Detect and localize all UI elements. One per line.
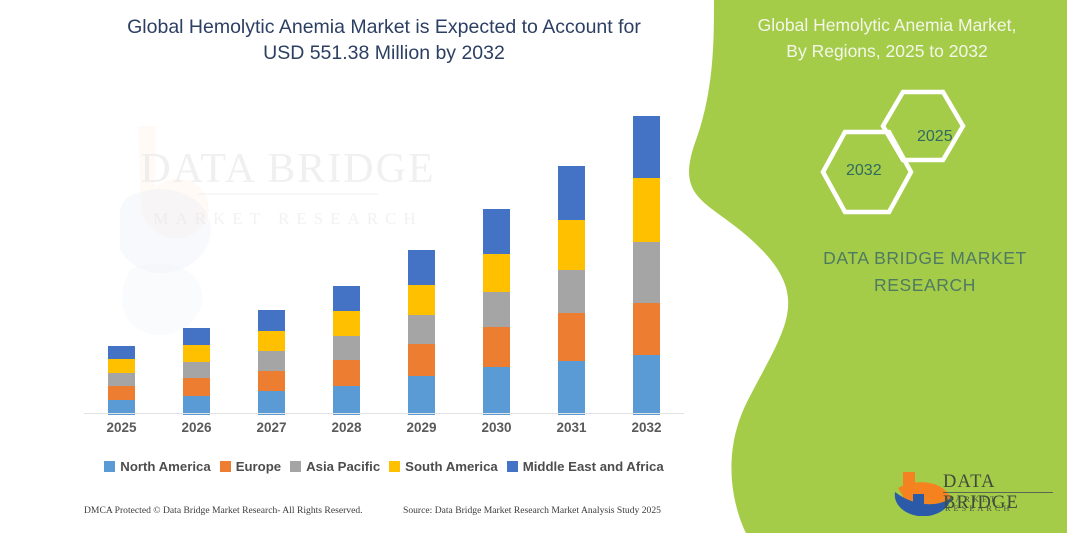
legend-item-label: South America bbox=[405, 459, 498, 474]
footer-dmca-text: DMCA Protected © Data Bridge Market Rese… bbox=[84, 505, 363, 516]
bar-2028 bbox=[333, 286, 360, 415]
bar-segment bbox=[108, 359, 135, 373]
bar-2032 bbox=[633, 116, 660, 415]
legend-item-label: Asia Pacific bbox=[306, 459, 380, 474]
x-axis-tick-2027: 2027 bbox=[242, 420, 302, 435]
page-title-line2: USD 551.38 Million by 2032 bbox=[84, 40, 684, 66]
legend-item[interactable]: North America bbox=[104, 459, 210, 474]
bar-segment bbox=[558, 166, 585, 220]
panel-title-line2: By Regions, 2025 to 2032 bbox=[722, 38, 1052, 64]
hexagon-2025-shape bbox=[883, 92, 963, 160]
bar-2029 bbox=[408, 250, 435, 415]
chart-legend: North AmericaEuropeAsia PacificSouth Ame… bbox=[84, 455, 684, 477]
bar-segment bbox=[483, 327, 510, 367]
legend-item-label: Middle East and Africa bbox=[523, 459, 664, 474]
page-title-line1: Global Hemolytic Anemia Market is Expect… bbox=[84, 14, 684, 40]
bar-segment bbox=[483, 254, 510, 292]
legend-swatch-icon bbox=[507, 461, 518, 472]
bar-segment bbox=[483, 292, 510, 328]
bar-2031 bbox=[558, 166, 585, 415]
bar-segment bbox=[108, 373, 135, 386]
legend-item[interactable]: Europe bbox=[220, 459, 281, 474]
bar-segment bbox=[258, 391, 285, 415]
x-axis-tick-2026: 2026 bbox=[167, 420, 227, 435]
bar-segment bbox=[558, 361, 585, 415]
bar-segment bbox=[183, 328, 210, 344]
bar-segment bbox=[408, 285, 435, 315]
bar-segment bbox=[633, 116, 660, 178]
hexagon-2032-label: 2032 bbox=[846, 162, 882, 180]
x-axis-tick-2031: 2031 bbox=[542, 420, 602, 435]
page-title: Global Hemolytic Anemia Market is Expect… bbox=[84, 14, 684, 66]
hexagon-badges bbox=[815, 88, 995, 218]
bar-segment bbox=[558, 270, 585, 313]
bar-segment bbox=[633, 355, 660, 415]
bar-2027 bbox=[258, 310, 285, 415]
stacked-bar-plot bbox=[84, 90, 684, 415]
logo-tagline: MARKET RESEARCH bbox=[945, 495, 1067, 513]
bar-segment bbox=[258, 331, 285, 352]
bar-segment bbox=[108, 346, 135, 359]
panel-brand-text: DATA BRIDGE MARKET RESEARCH bbox=[790, 245, 1060, 299]
bar-segment bbox=[408, 344, 435, 377]
logo-divider bbox=[943, 492, 1053, 493]
legend-swatch-icon bbox=[389, 461, 400, 472]
legend-swatch-icon bbox=[290, 461, 301, 472]
legend-item[interactable]: Asia Pacific bbox=[290, 459, 380, 474]
bar-segment bbox=[108, 386, 135, 400]
legend-item-label: North America bbox=[120, 459, 210, 474]
bar-segment bbox=[333, 286, 360, 311]
hexagon-2025-label: 2025 bbox=[917, 128, 953, 146]
bar-segment bbox=[483, 367, 510, 415]
x-axis-tick-2029: 2029 bbox=[392, 420, 452, 435]
bar-segment bbox=[258, 371, 285, 392]
bar-segment bbox=[408, 250, 435, 285]
legend-item-label: Europe bbox=[236, 459, 281, 474]
bar-segment bbox=[183, 362, 210, 378]
x-axis-tick-2028: 2028 bbox=[317, 420, 377, 435]
legend-item[interactable]: South America bbox=[389, 459, 498, 474]
bar-segment bbox=[558, 220, 585, 270]
bar-segment bbox=[408, 315, 435, 343]
bar-2025 bbox=[108, 346, 135, 415]
bar-segment bbox=[558, 313, 585, 361]
bar-segment bbox=[183, 345, 210, 362]
x-axis-tick-2032: 2032 bbox=[617, 420, 677, 435]
bar-segment bbox=[183, 378, 210, 395]
footer: DMCA Protected © Data Bridge Market Rese… bbox=[0, 505, 700, 529]
legend-swatch-icon bbox=[104, 461, 115, 472]
x-axis-tick-2030: 2030 bbox=[467, 420, 527, 435]
bar-segment bbox=[408, 376, 435, 415]
bar-segment bbox=[333, 311, 360, 336]
bar-segment bbox=[633, 242, 660, 304]
x-axis-tick-2025: 2025 bbox=[92, 420, 152, 435]
panel-title-line1: Global Hemolytic Anemia Market, bbox=[722, 12, 1052, 38]
bar-2030 bbox=[483, 209, 510, 415]
legend-swatch-icon bbox=[220, 461, 231, 472]
infographic-slide: Global Hemolytic Anemia Market is Expect… bbox=[0, 0, 1067, 533]
bar-segment bbox=[633, 303, 660, 355]
panel-brand-line1: DATA BRIDGE MARKET bbox=[790, 245, 1060, 272]
bar-segment bbox=[333, 360, 360, 386]
panel-brand-line2: RESEARCH bbox=[790, 272, 1060, 299]
bar-segment bbox=[483, 209, 510, 253]
bar-segment bbox=[333, 336, 360, 360]
panel-title: Global Hemolytic Anemia Market, By Regio… bbox=[722, 12, 1052, 64]
x-axis-labels: 20252026202720282029203020312032 bbox=[84, 420, 684, 446]
x-axis-line bbox=[84, 413, 684, 414]
bar-2026 bbox=[183, 328, 210, 415]
legend-item[interactable]: Middle East and Africa bbox=[507, 459, 664, 474]
footer-source-text: Source: Data Bridge Market Research Mark… bbox=[403, 505, 661, 516]
bar-segment bbox=[333, 386, 360, 415]
bar-segment bbox=[633, 178, 660, 242]
bar-segment bbox=[258, 351, 285, 371]
bar-segment bbox=[258, 310, 285, 331]
